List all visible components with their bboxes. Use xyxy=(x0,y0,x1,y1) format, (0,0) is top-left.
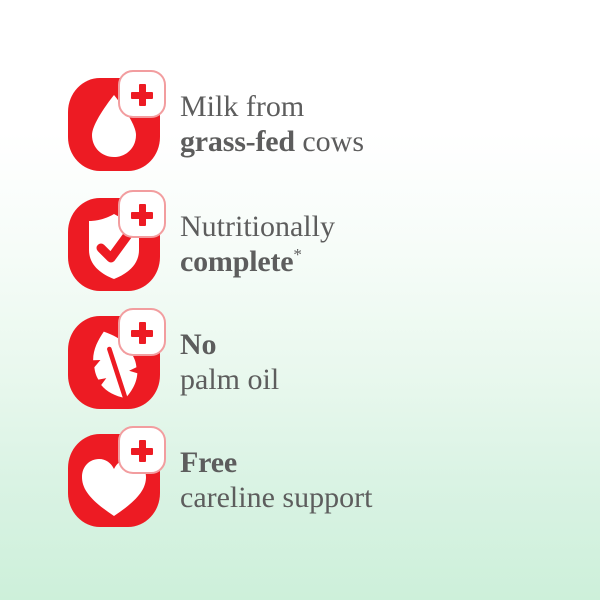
benefit-text: Free careline support xyxy=(180,445,372,516)
benefit-line-2-bold: grass-fed xyxy=(180,125,295,158)
promo-benefits-panel: Milk from grass-fed cows xyxy=(0,0,600,600)
benefit-line-2: careline support xyxy=(180,480,372,515)
plus-bar-vertical xyxy=(139,204,146,226)
plus-badge-icon xyxy=(118,190,166,238)
plus-badge-icon xyxy=(118,70,166,118)
plus-badge-icon xyxy=(118,426,166,474)
benefit-line-2: complete* xyxy=(180,244,335,279)
benefit-icon-wrap xyxy=(62,426,170,534)
plus-badge-icon xyxy=(118,308,166,356)
benefit-item-milk: Milk from grass-fed cows xyxy=(62,70,582,178)
benefit-text: Milk from grass-fed cows xyxy=(180,89,364,160)
benefit-item-careline: Free careline support xyxy=(62,426,582,534)
benefit-item-palm-oil: No palm oil xyxy=(62,308,582,416)
benefit-line-1: Nutritionally xyxy=(180,209,335,244)
benefit-icon-wrap xyxy=(62,308,170,416)
plus-bar-vertical xyxy=(139,84,146,106)
benefit-line-2: grass-fed cows xyxy=(180,124,364,159)
benefit-line-2: palm oil xyxy=(180,362,279,397)
benefit-line-2-regular: cows xyxy=(295,125,364,158)
benefit-line-1: Free xyxy=(180,445,372,480)
plus-bar-vertical xyxy=(139,322,146,344)
plus-bar-vertical xyxy=(139,440,146,462)
benefit-line-1: Milk from xyxy=(180,89,364,124)
benefit-icon-wrap xyxy=(62,70,170,178)
benefit-line-1: No xyxy=(180,327,279,362)
asterisk-footnote-marker: * xyxy=(293,245,302,264)
benefit-list: Milk from grass-fed cows xyxy=(0,0,600,600)
benefit-text: Nutritionally complete* xyxy=(180,209,335,280)
benefit-line-2-bold: complete xyxy=(180,245,293,278)
benefit-text: No palm oil xyxy=(180,327,279,398)
benefit-item-nutrition: Nutritionally complete* xyxy=(62,190,582,298)
benefit-icon-wrap xyxy=(62,190,170,298)
